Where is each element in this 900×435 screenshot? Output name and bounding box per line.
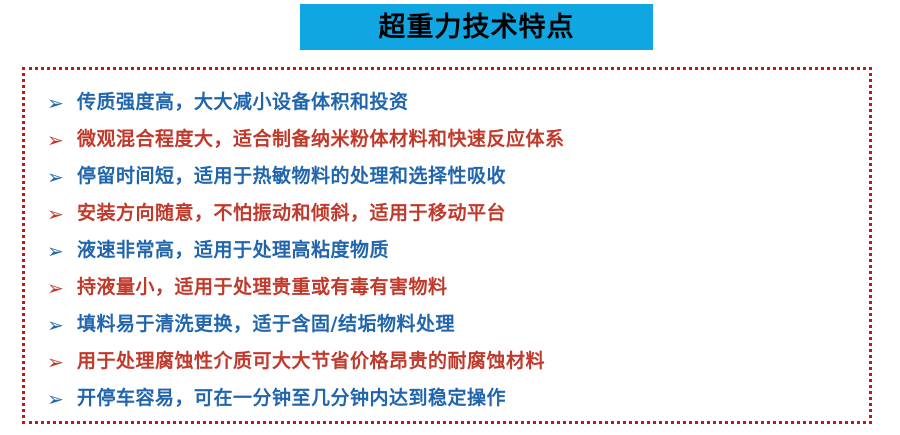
list-item-label: 持液量小，适用于处理贵重或有毒有害物料 — [77, 278, 448, 297]
arrow-bullet-icon: ➢ — [47, 278, 77, 298]
list-item: ➢ 微观混合程度大，适合制备纳米粉体材料和快速反应体系 — [25, 121, 869, 158]
list-item: ➢ 液速非常高，适用于处理高粘度物质 — [25, 232, 869, 269]
list-item: ➢ 传质强度高，大大减小设备体积和投资 — [25, 84, 869, 121]
arrow-bullet-icon: ➢ — [47, 204, 77, 224]
arrow-bullet-icon: ➢ — [47, 130, 77, 150]
list-item: ➢ 开停车容易，可在一分钟至几分钟内达到稳定操作 — [25, 380, 869, 417]
list-item-label: 停留时间短，适用于热敏物料的处理和选择性吸收 — [77, 167, 506, 186]
arrow-bullet-icon: ➢ — [47, 389, 77, 409]
list-item: ➢ 用于处理腐蚀性介质可大大节省价格昂贵的耐腐蚀材料 — [25, 343, 869, 380]
arrow-bullet-icon: ➢ — [47, 93, 77, 113]
list-item-label: 用于处理腐蚀性介质可大大节省价格昂贵的耐腐蚀材料 — [77, 352, 545, 371]
arrow-bullet-icon: ➢ — [47, 352, 77, 372]
feature-list-box: ➢ 传质强度高，大大减小设备体积和投资 ➢ 微观混合程度大，适合制备纳米粉体材料… — [22, 67, 872, 424]
list-item: ➢ 填料易于清洗更换，适于含固/结垢物料处理 — [25, 306, 869, 343]
list-item: ➢ 安装方向随意，不怕振动和倾斜，适用于移动平台 — [25, 195, 869, 232]
list-item-label: 安装方向随意，不怕振动和倾斜，适用于移动平台 — [77, 204, 506, 223]
list-item: ➢ 停留时间短，适用于热敏物料的处理和选择性吸收 — [25, 158, 869, 195]
arrow-bullet-icon: ➢ — [47, 315, 77, 335]
arrow-bullet-icon: ➢ — [47, 241, 77, 261]
page-title: 超重力技术特点 — [379, 14, 575, 41]
list-item-label: 液速非常高，适用于处理高粘度物质 — [77, 241, 389, 260]
header-banner-row: 超重力技术特点 — [0, 0, 900, 56]
list-item-label: 微观混合程度大，适合制备纳米粉体材料和快速反应体系 — [77, 130, 565, 149]
list-item-label: 传质强度高，大大减小设备体积和投资 — [77, 93, 409, 112]
arrow-bullet-icon: ➢ — [47, 167, 77, 187]
list-item-label: 填料易于清洗更换，适于含固/结垢物料处理 — [77, 315, 455, 334]
feature-bullet-list: ➢ 传质强度高，大大减小设备体积和投资 ➢ 微观混合程度大，适合制备纳米粉体材料… — [25, 84, 869, 417]
title-banner: 超重力技术特点 — [300, 4, 653, 50]
list-item-label: 开停车容易，可在一分钟至几分钟内达到稳定操作 — [77, 389, 506, 408]
list-item: ➢ 持液量小，适用于处理贵重或有毒有害物料 — [25, 269, 869, 306]
